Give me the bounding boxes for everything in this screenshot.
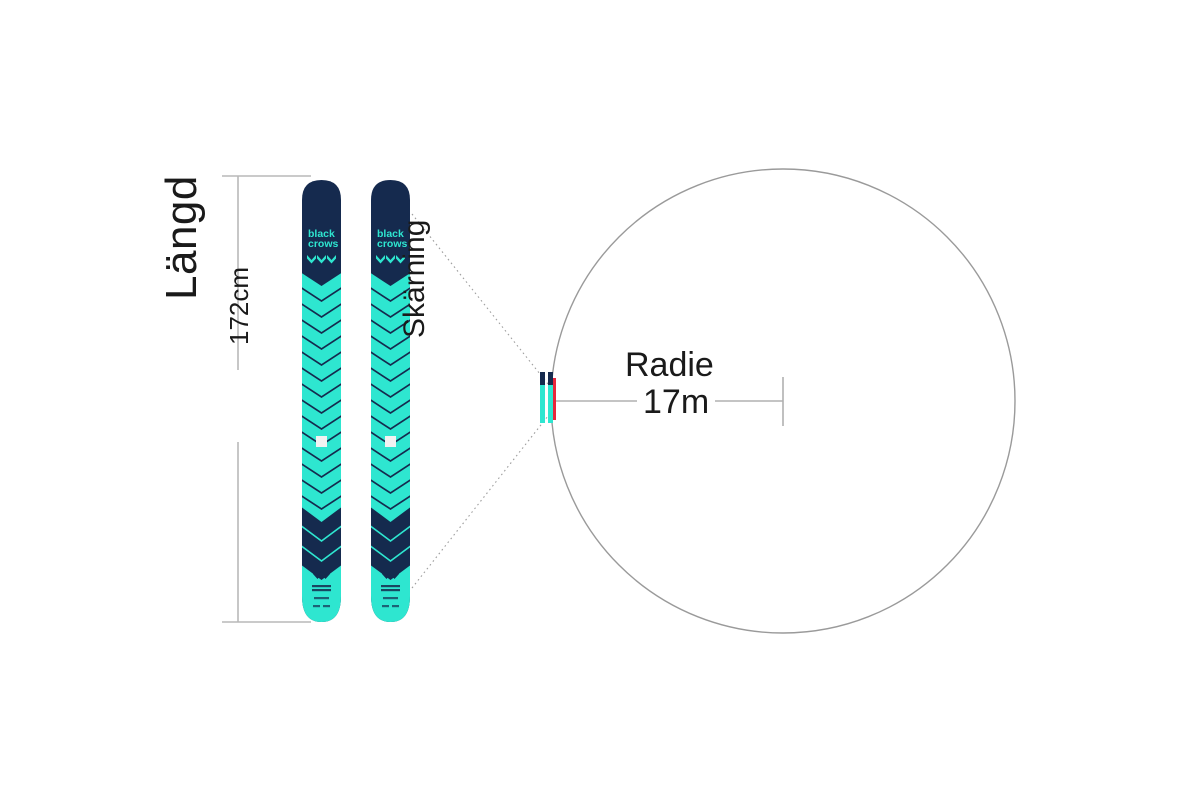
ski-left-top-view: black crows bbox=[300, 180, 344, 630]
radius-label: Radie bbox=[625, 348, 714, 382]
length-label: Längd bbox=[160, 175, 204, 300]
length-dimension-line bbox=[222, 176, 311, 622]
diagram-canvas: black crows bbox=[0, 0, 1200, 800]
length-value: 172cm bbox=[226, 267, 252, 345]
radius-value: 17m bbox=[637, 385, 715, 419]
ski-spec-diagram: black crows bbox=[0, 0, 1200, 800]
sidecut-label: Skärning bbox=[400, 220, 430, 338]
ski-pair-side-view bbox=[540, 372, 556, 423]
sidecut-projection-lines bbox=[412, 214, 548, 588]
svg-text:crows: crows bbox=[308, 238, 339, 250]
